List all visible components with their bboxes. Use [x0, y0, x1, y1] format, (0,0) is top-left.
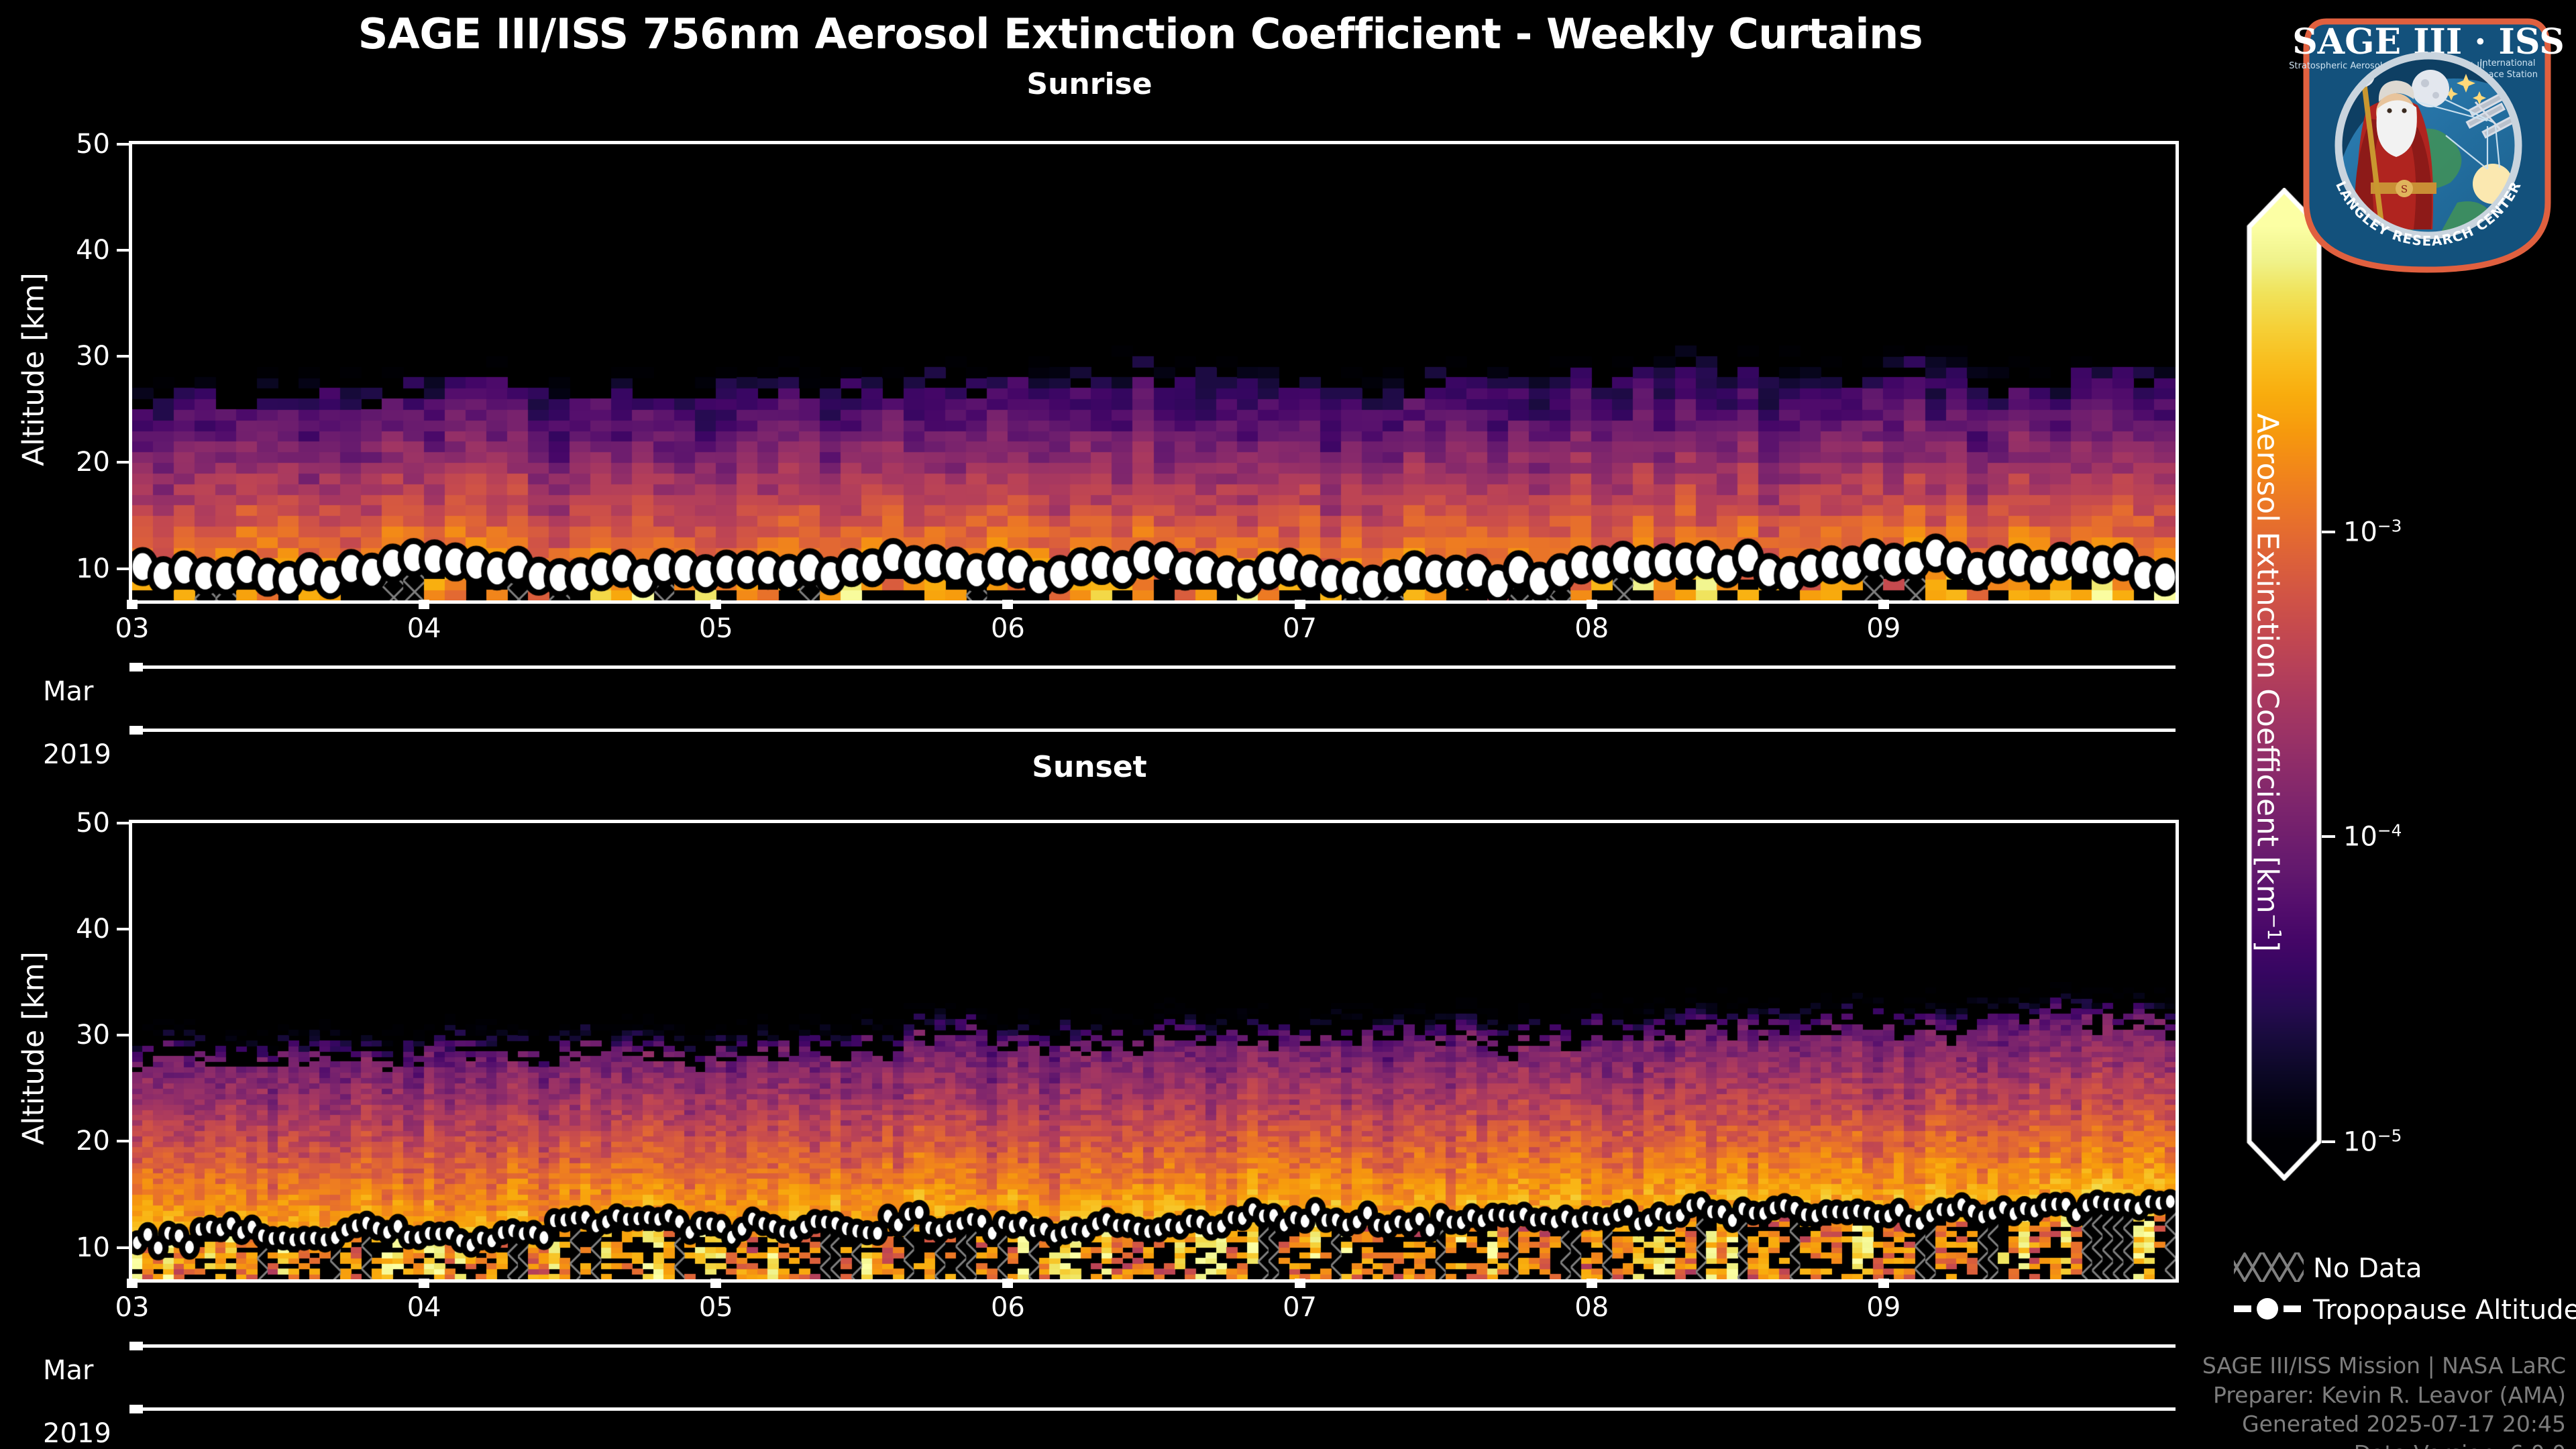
colorbar-tick-mark [2322, 531, 2335, 533]
x-axis-tick-mark [1002, 1279, 1013, 1288]
y-axis-tick-label: 50 [16, 808, 110, 839]
y-axis-tick-mark [117, 249, 129, 252]
x-axis-level-label-year: 2019 [43, 1418, 111, 1449]
colorbar-label: Aerosol Extinction Coefficient [km−1] [2251, 280, 2285, 1085]
y-axis-tick-mark [117, 1246, 129, 1249]
x-axis-level-rule-month [132, 665, 2176, 669]
y-axis-tick-mark [117, 822, 129, 824]
x-axis-tick-mark [127, 600, 138, 609]
y-axis-tick-label: 40 [16, 914, 110, 945]
x-axis-tick-mark [1878, 1279, 1889, 1288]
x-axis-level-rule-year [132, 729, 2176, 732]
x-axis-tick-label-day: 04 [407, 613, 441, 644]
x-axis-level-nub-month [129, 1342, 143, 1350]
x-axis-tick-label-day: 09 [1866, 613, 1900, 644]
x-axis-tick-label-day: 04 [407, 1292, 441, 1323]
x-axis-level-rule-year [132, 1407, 2176, 1411]
x-axis-level-label-month: Mar [43, 676, 93, 707]
y-axis-tick-label: 40 [16, 235, 110, 266]
x-axis-tick-label-day: 07 [1283, 1292, 1317, 1323]
x-axis-tick-label-day: 03 [115, 613, 150, 644]
y-axis-tick-mark [117, 568, 129, 570]
y-axis-tick-mark [117, 1034, 129, 1036]
y-axis-tick-label: 20 [16, 1126, 110, 1157]
colorbar-tick-label: 10−5 [2343, 1126, 2402, 1157]
no-data-hatch-icon [2234, 1252, 2304, 1285]
x-axis-tick-mark [1587, 1279, 1597, 1288]
sage-iii-iss-mission-patch-logo: SAGE III · ISS Stratospheric Aerosol and… [2286, 1, 2568, 283]
page-title: SAGE III/ISS 756nm Aerosol Extinction Co… [0, 9, 2281, 58]
footer-line-generated: Generated 2025-07-17 20:45 [1905, 1409, 2566, 1439]
legend-item-tropopause: Tropopause Altitude [2234, 1289, 2569, 1331]
x-axis-tick-mark [1587, 600, 1597, 609]
logo-subtitle-right-1: International [2480, 58, 2536, 68]
y-axis-tick-mark [117, 1140, 129, 1142]
x-axis-tick-mark [1002, 600, 1013, 609]
y-axis-tick-label: 30 [16, 341, 110, 372]
x-axis-level-rule-month [132, 1344, 2176, 1348]
panel-title-sunrise: Sunrise [0, 67, 2179, 101]
x-axis-tick-mark [710, 1279, 721, 1288]
logo-svg: SAGE III · ISS Stratospheric Aerosol and… [2286, 1, 2568, 283]
x-axis-tick-label-day: 05 [699, 1292, 733, 1323]
logo-moon-icon [2412, 70, 2449, 107]
footer-line-preparer: Preparer: Kevin R. Leavor (AMA) [1905, 1381, 2566, 1410]
colorbar-tick-mark [2322, 835, 2335, 838]
y-axis-tick-label: 10 [16, 1232, 110, 1263]
x-axis-level-nub-year [129, 726, 143, 735]
legend-item-no-data: No Data [2234, 1248, 2569, 1289]
y-axis-tick-mark [117, 928, 129, 930]
y-axis-tick-label: 50 [16, 129, 110, 160]
x-axis-tick-label-day: 05 [699, 613, 733, 644]
legend: No Data Tropopause Altitude [2234, 1248, 2569, 1331]
x-axis-tick-mark [1295, 600, 1305, 609]
legend-label-no-data: No Data [2313, 1253, 2422, 1284]
x-axis-tick-label-day: 03 [115, 1292, 150, 1323]
x-axis-tick-mark [1295, 1279, 1305, 1288]
footer-line-version: Data Version: 6.0.0 [1905, 1439, 2566, 1449]
x-axis-tick-label-day: 07 [1283, 613, 1317, 644]
legend-label-tropopause: Tropopause Altitude [2313, 1295, 2576, 1326]
colorbar-tick-mark [2322, 1140, 2335, 1143]
x-axis-level-label-month: Mar [43, 1355, 93, 1386]
x-axis-level-nub-month [129, 663, 143, 672]
x-axis-tick-mark [1878, 600, 1889, 609]
tropopause-marker-icon [2234, 1294, 2304, 1326]
x-axis-tick-mark [127, 1279, 138, 1288]
panel-title-sunset: Sunset [0, 750, 2179, 784]
heatmap-sunrise[interactable] [129, 141, 2179, 604]
x-axis-tick-label-day: 06 [991, 1292, 1025, 1323]
x-axis-tick-mark [419, 1279, 429, 1288]
y-axis-tick-label: 10 [16, 553, 110, 584]
y-axis-tick-mark [117, 355, 129, 358]
x-axis-tick-mark [419, 600, 429, 609]
footer-credits: SAGE III/ISS Mission | NASA LaRC Prepare… [1905, 1351, 2566, 1449]
x-axis-level-nub-year [129, 1405, 143, 1413]
colorbar-tick-label: 10−3 [2343, 516, 2402, 547]
y-axis-tick-mark [117, 143, 129, 146]
y-axis-tick-label: 20 [16, 447, 110, 478]
heatmap-sunset[interactable] [129, 820, 2179, 1283]
x-axis-tick-label-day: 08 [1574, 613, 1609, 644]
figure-canvas: SAGE III/ISS 756nm Aerosol Extinction Co… [0, 0, 2576, 1449]
x-axis-tick-label-day: 06 [991, 613, 1025, 644]
y-axis-tick-label: 30 [16, 1020, 110, 1051]
x-axis-tick-mark [710, 600, 721, 609]
colorbar-tick-label: 10−4 [2343, 821, 2402, 853]
y-axis-tick-mark [117, 461, 129, 464]
svg-text:S: S [2401, 183, 2408, 195]
x-axis-tick-label-day: 08 [1574, 1292, 1609, 1323]
footer-line-mission: SAGE III/ISS Mission | NASA LaRC [1905, 1351, 2566, 1381]
x-axis-tick-label-day: 09 [1866, 1292, 1900, 1323]
